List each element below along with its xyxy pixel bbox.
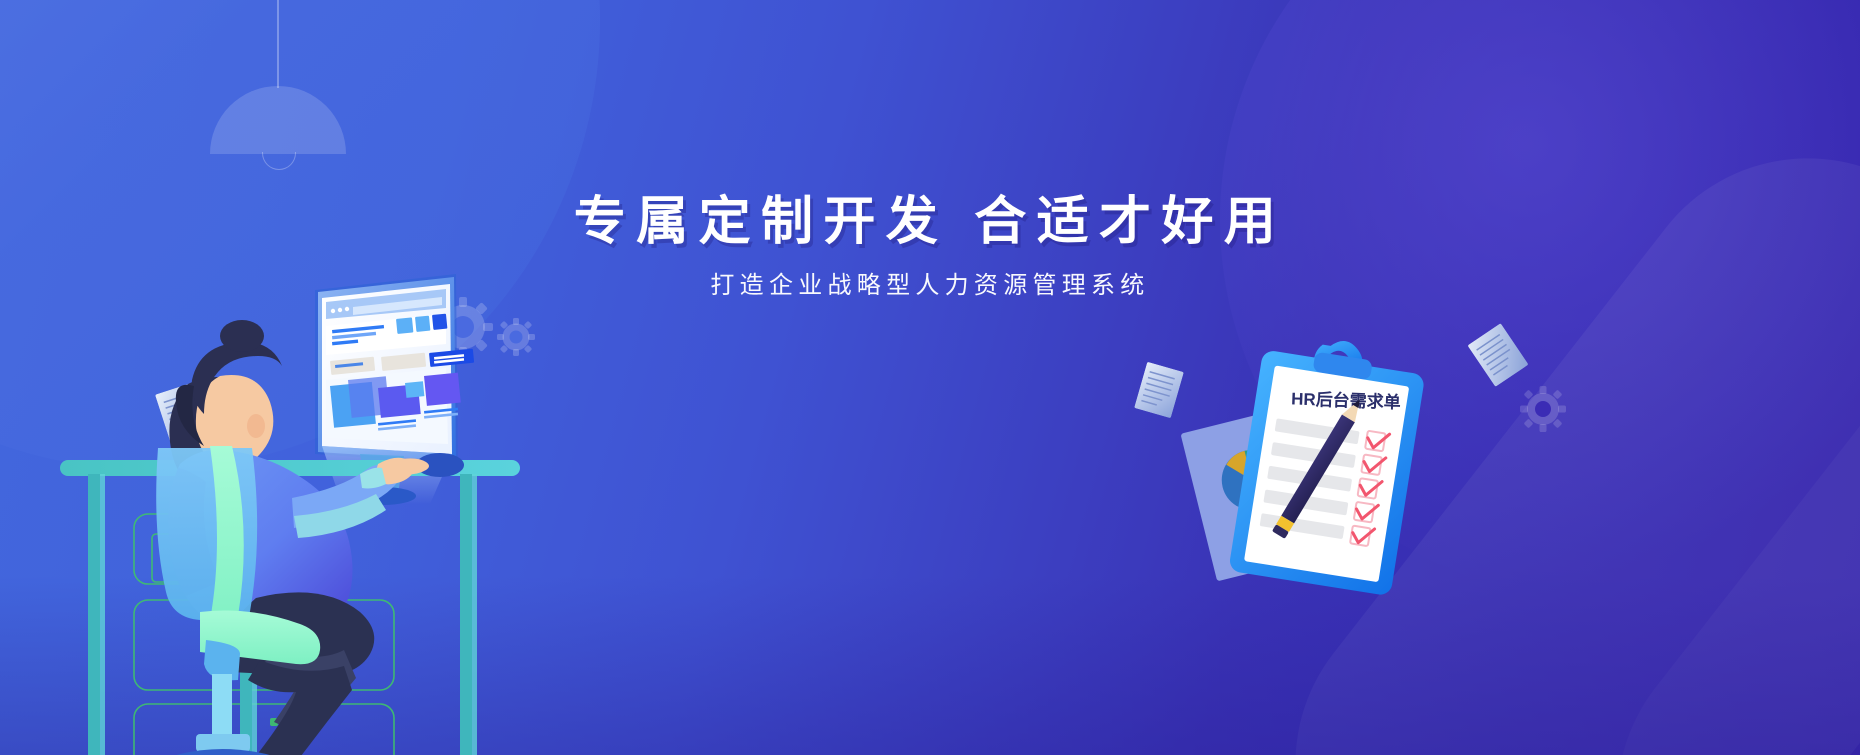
- lamp-cord: [277, 0, 279, 88]
- lamp-shade: [210, 86, 346, 154]
- clipboard: HR后台需求单: [1228, 329, 1428, 597]
- floating-paper-icon: [1134, 362, 1184, 419]
- developer-at-desk-illustration: [60, 268, 680, 755]
- gear-icon: [1520, 386, 1566, 432]
- hr-requirements-clipboard-illustration: HR后台需求单: [1180, 330, 1480, 630]
- headline-part-1: 专属定制开发: [574, 193, 948, 251]
- hero-banner: 专属定制开发合适才好用 打造企业战略型人力资源管理系统: [0, 0, 1860, 755]
- pendant-lamp-icon: [210, 0, 346, 166]
- clipboard-title: HR后台需求单: [1291, 388, 1401, 412]
